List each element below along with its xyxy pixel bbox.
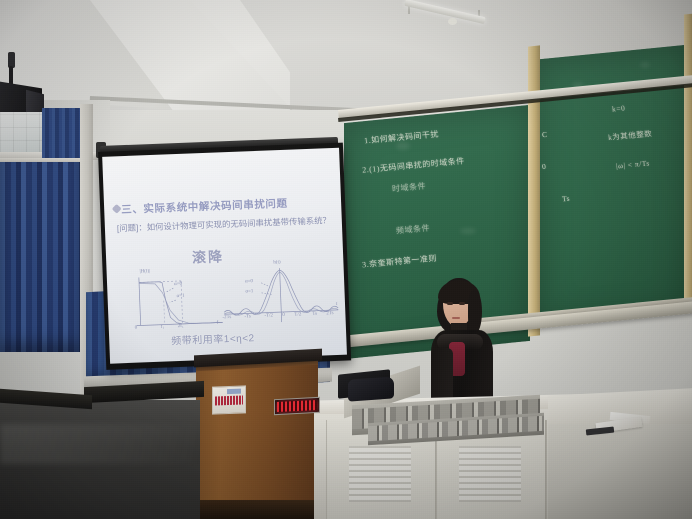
glass-block-window-gloss — [0, 112, 48, 154]
projection-screen: 三、实际系统中解决码间串扰问题 [问题]：如何设计物理可实现的无码间串扰基带传输… — [98, 143, 351, 370]
slide-footer: 频带利用率1<η<2 — [171, 329, 255, 347]
led-digits — [277, 400, 317, 412]
blackboard: 1.如何解决码间干扰 2.(1)无码间串扰的时域条件 时域条件 频域条件 3.奈… — [340, 18, 692, 368]
slide-chart-impulse-response: h(t) α=0 α=1 -2Ts -Ts -T/2 0 T/2 Ts 2Ts … — [218, 258, 343, 331]
instructor-eye-right — [459, 302, 465, 305]
slide-question: [问题]：如何设计物理可实现的无码间串扰基带传输系统？ — [117, 214, 335, 235]
instructor-mouth — [452, 317, 460, 319]
chalkboard-line: 0 — [542, 162, 547, 171]
window-curtain-small[interactable] — [42, 108, 80, 162]
dark-bag — [348, 376, 394, 401]
window-curtains[interactable] — [0, 162, 80, 352]
chalk-smudge — [640, 62, 650, 68]
chalk-smudge — [572, 82, 584, 89]
console-vent — [459, 446, 521, 502]
blackboard-divider-right — [684, 13, 692, 304]
slide-title: 三、实际系统中解决码间串扰问题 — [121, 194, 333, 217]
instructor-eye-left — [447, 302, 453, 305]
podium-sticker — [212, 385, 246, 414]
chalkboard-line: Ts — [562, 194, 571, 204]
classroom-photo: 1.如何解决码间干扰 2.(1)无码间串扰的时域条件 时域条件 频域条件 3.奈… — [0, 0, 692, 519]
slide-chart-frequency-response: |H(f)| α=0 α=1 0 f₁ 2f₁ f — [129, 268, 227, 334]
led-display[interactable] — [274, 397, 320, 415]
blackboard-divider — [528, 45, 540, 336]
console-vent — [349, 446, 411, 502]
projection-screen-surface: 三、实际系统中解决码间串扰问题 [问题]：如何设计物理可实现的无码间串扰基带传输… — [102, 148, 347, 364]
wooden-podium — [196, 358, 318, 519]
podium-sticker-text — [215, 396, 243, 406]
podium-sticker-banner — [227, 389, 241, 394]
instructor-hair-side — [468, 290, 482, 334]
right-desk-front — [548, 424, 692, 519]
floor-reflection — [0, 424, 200, 464]
chalkboard-line: k=0 — [612, 103, 626, 113]
chart-right-svg — [218, 258, 343, 331]
chalk-smudge — [460, 228, 476, 234]
chalkboard-line: C — [542, 130, 548, 139]
podium-base-shadow — [196, 500, 318, 519]
